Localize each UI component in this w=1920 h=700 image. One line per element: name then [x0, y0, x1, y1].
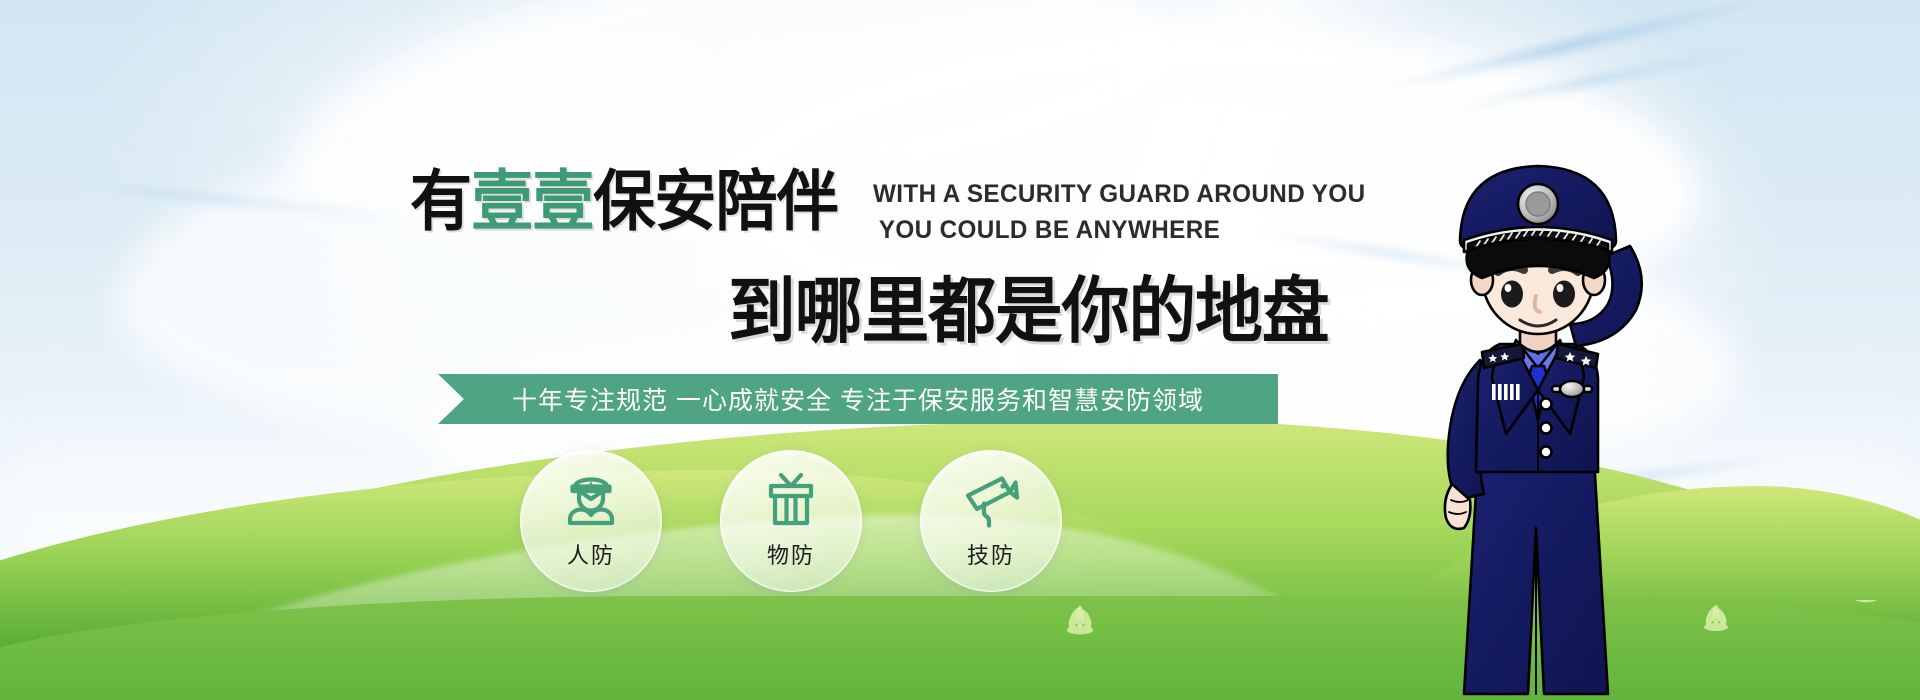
- headline-part-2: 保安陪伴: [593, 164, 837, 238]
- security-guard-icon: [560, 472, 622, 528]
- cctv-camera-icon: [960, 472, 1022, 528]
- headline-row: 有壹壹保安陪伴 WITH A SECURITY GUARD AROUND YOU…: [410, 168, 1381, 249]
- promo-banner: 有壹壹保安陪伴 WITH A SECURITY GUARD AROUND YOU…: [0, 0, 1920, 700]
- saluting-security-guard: [1418, 128, 1738, 700]
- feature-label: 技防: [967, 538, 1015, 570]
- feature-label: 人防: [567, 538, 615, 570]
- feature-item-physical-defense[interactable]: 物防: [720, 450, 862, 592]
- feature-item-technical-defense[interactable]: 技防: [920, 450, 1062, 592]
- headline-accent-brand: 壹壹: [471, 164, 593, 238]
- tagline-text: 十年专注规范 一心成就安全 专注于保安服务和智慧安防领域: [512, 381, 1204, 417]
- headline-chinese-primary: 有壹壹保安陪伴: [410, 168, 838, 234]
- feature-list: 人防 物防: [520, 450, 1062, 592]
- headline-english-line1: WITH A SECURITY GUARD AROUND YOU: [873, 176, 1366, 212]
- feature-label: 物防: [767, 538, 815, 570]
- gift-box-icon: [760, 472, 822, 528]
- tagline-ribbon: 十年专注规范 一心成就安全 专注于保安服务和智慧安防领域: [438, 374, 1278, 424]
- feature-item-human-defense[interactable]: 人防: [520, 450, 662, 592]
- headline-part-1: 有: [410, 164, 471, 238]
- headline-english-line2: YOU COULD BE ANYWHERE: [873, 212, 1366, 248]
- headline-english-block: WITH A SECURITY GUARD AROUND YOU YOU COU…: [873, 168, 1381, 249]
- headline-chinese-secondary: 到哪里都是你的地盘: [728, 276, 1329, 348]
